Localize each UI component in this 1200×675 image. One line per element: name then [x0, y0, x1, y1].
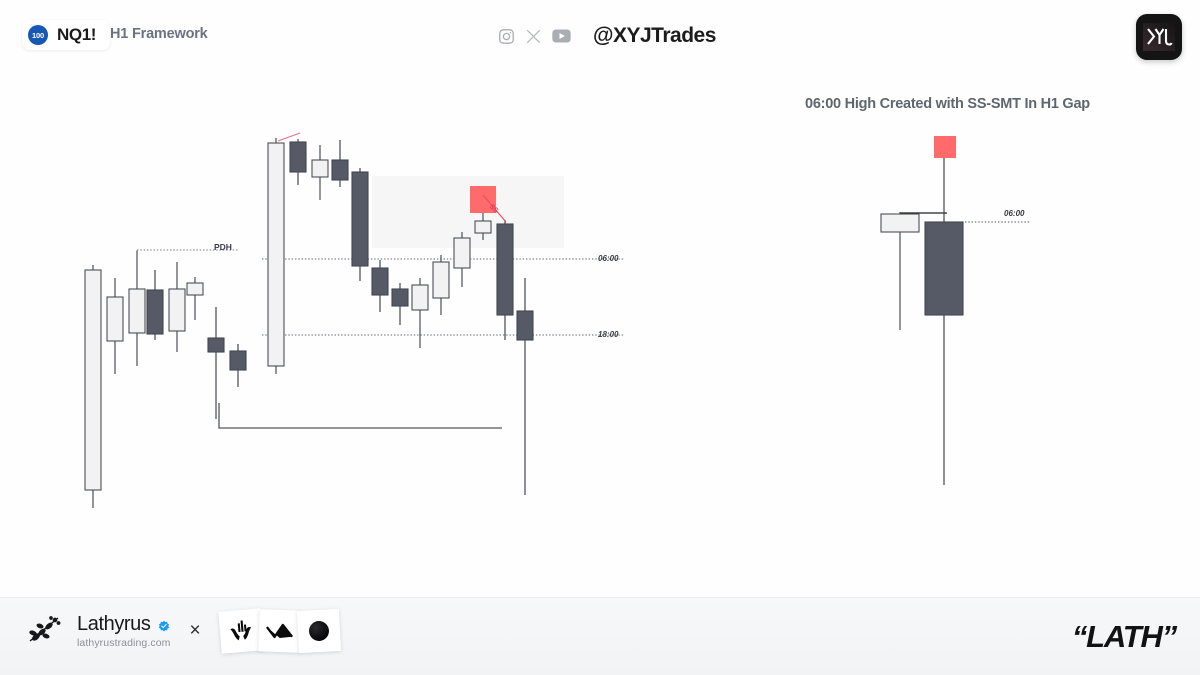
candle-body	[129, 289, 145, 333]
side-candlestick-chart[interactable]: 06:00	[760, 60, 1180, 560]
candle-body	[433, 262, 449, 298]
candle-body	[517, 311, 533, 340]
brand-name: Lathyrus	[77, 613, 151, 636]
candle-body	[230, 351, 246, 370]
candle-body	[881, 214, 919, 232]
candle-body	[352, 172, 368, 266]
main-candlestick-chart[interactable]: PDH 06:00 18:00 SS	[0, 60, 700, 560]
footer-brand-group: Lathyrus lathyrustrading.com ×	[24, 610, 340, 652]
verified-badge-icon	[158, 619, 170, 631]
collab-separator: ×	[190, 620, 201, 642]
hands-chart-icon[interactable]	[218, 608, 264, 654]
handle-text: @XYJTrades	[593, 24, 716, 48]
candle-body	[454, 238, 470, 268]
structure-bracket	[219, 403, 502, 428]
screenshot-stage: 100 NQ1! H1 Framework	[0, 0, 1200, 675]
candle-body	[497, 224, 513, 315]
tagline: “LATH”	[1072, 619, 1176, 655]
level-label-0600: 06:00	[598, 254, 619, 263]
ticker-badge: 100	[28, 25, 48, 45]
lathyrus-sprig-icon	[24, 612, 64, 651]
candle-body	[208, 338, 224, 352]
side-level-label: 06:00	[1004, 209, 1025, 218]
ticker-symbol: NQ1!	[57, 25, 96, 45]
side-candle-series	[881, 136, 963, 485]
candle-body	[412, 285, 428, 310]
brand-url[interactable]: lathyrustrading.com	[77, 637, 171, 649]
brand-text-block: Lathyrus lathyrustrading.com	[77, 613, 171, 649]
footer-bar: Lathyrus lathyrustrading.com ×	[0, 597, 1200, 675]
youtube-icon[interactable]	[552, 29, 571, 43]
candle-body	[925, 222, 963, 315]
black-circle-icon[interactable]	[297, 609, 341, 653]
framework-label: H1 Framework	[110, 26, 208, 42]
instagram-icon[interactable]	[498, 28, 515, 45]
candle-body	[312, 160, 328, 177]
candle-body	[187, 283, 203, 295]
gap-zone-rect	[372, 176, 564, 248]
social-handle-group: @XYJTrades	[498, 24, 716, 48]
swing-high-stub	[278, 133, 300, 141]
zigzag-icon[interactable]	[258, 609, 301, 652]
candle-body	[85, 270, 101, 490]
candle-body	[332, 160, 348, 180]
x-twitter-icon[interactable]	[526, 29, 541, 44]
candle-body	[290, 142, 306, 172]
candle-body	[169, 289, 185, 331]
xyj-monogram-logo[interactable]	[1136, 14, 1182, 60]
candle-body	[147, 290, 163, 334]
level-label-1800: 18:00	[598, 330, 619, 339]
candle-body	[107, 297, 123, 341]
brand-name-row: Lathyrus	[77, 613, 171, 636]
side-high-marker	[934, 136, 956, 158]
ticker-pill[interactable]: 100 NQ1!	[22, 20, 110, 50]
candle-body	[392, 289, 408, 306]
candle-body	[475, 221, 491, 233]
partner-icon-cards	[220, 610, 340, 652]
candle-body	[372, 268, 388, 295]
candle-body	[268, 143, 284, 366]
pdh-label: PDH	[214, 242, 232, 252]
